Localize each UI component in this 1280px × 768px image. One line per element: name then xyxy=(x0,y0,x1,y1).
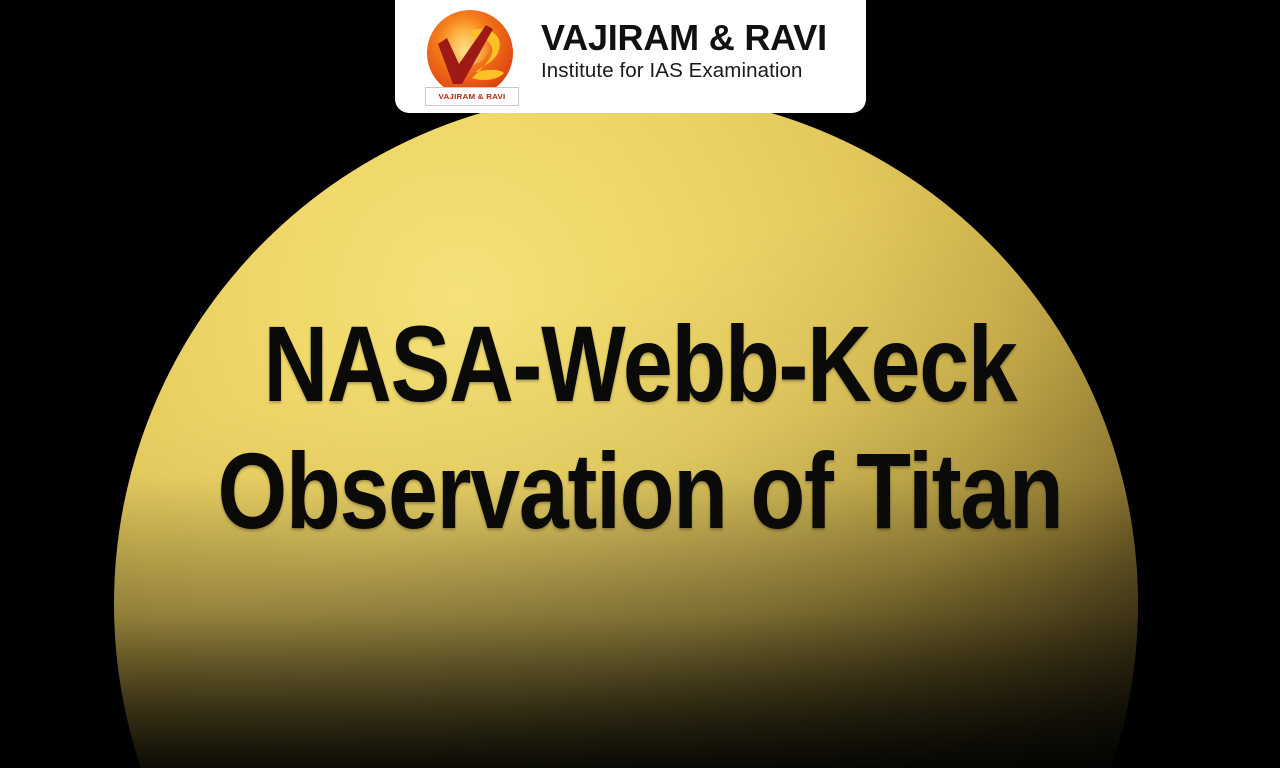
logo-banner-text: VAJIRAM & RAVI xyxy=(439,92,506,100)
brand-logo-card[interactable]: VAJIRAM & RAVI VAJIRAM & RAVI Institute … xyxy=(395,0,866,113)
vajiram-ravi-logo-icon: VAJIRAM & RAVI xyxy=(421,8,523,104)
brand-subtitle: Institute for IAS Examination xyxy=(541,59,827,83)
titan-poster-canvas: VAJIRAM & RAVI VAJIRAM & RAVI Institute … xyxy=(0,0,1280,768)
titan-terminator-shadow xyxy=(114,92,1138,768)
logo-banner: VAJIRAM & RAVI xyxy=(425,87,519,106)
brand-title: VAJIRAM & RAVI xyxy=(541,19,827,57)
brand-text-block: VAJIRAM & RAVI Institute for IAS Examina… xyxy=(541,19,827,83)
logo-checkmark-icon xyxy=(437,24,493,86)
titan-disc-image xyxy=(0,0,1280,768)
